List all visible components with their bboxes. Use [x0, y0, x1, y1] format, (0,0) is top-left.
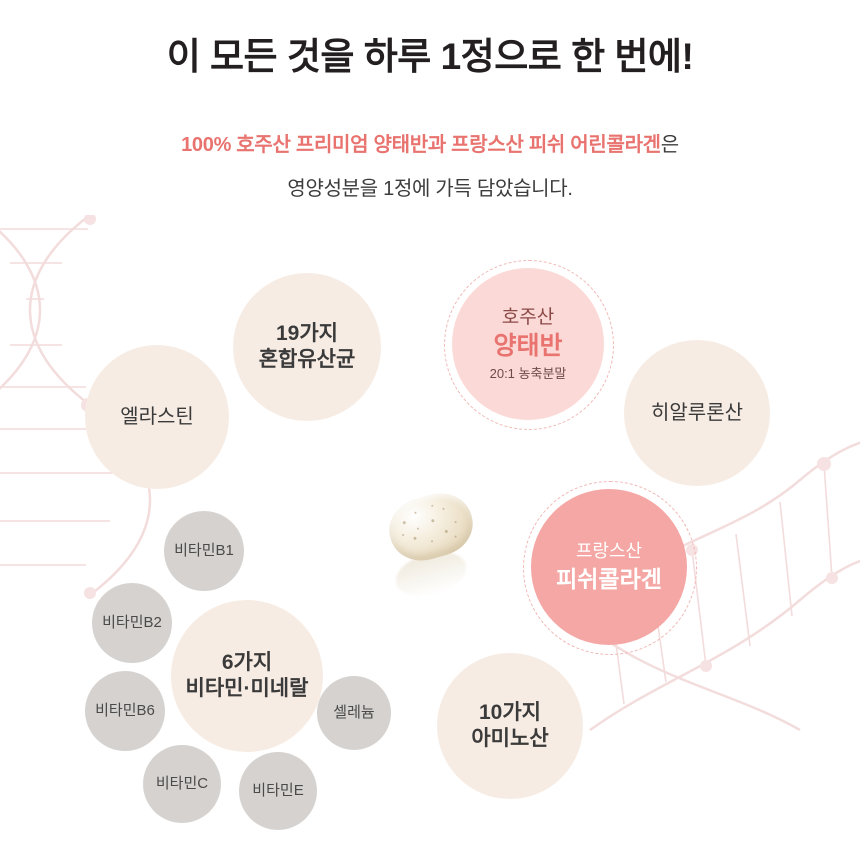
subheading-line-2: 영양성분을 1정에 가득 담았습니다. [0, 172, 860, 201]
bubble-vitamin-mineral: 6가지 비타민·미네랄 [171, 600, 323, 752]
bubble-vitamin-c: 비타민C [143, 745, 221, 823]
bubble-vitamin-b6-label: 비타민B6 [95, 702, 155, 720]
bubble-vitamin-mineral-line2: 비타민·미네랄 [186, 676, 309, 702]
bubble-selenium: 셀레늄 [317, 676, 391, 750]
bubble-vitamin-c-label: 비타민C [156, 775, 208, 793]
bubble-fish-collagen: 프랑스산 피쉬콜라겐 [531, 489, 687, 645]
bubble-hyaluronic-label: 히알루론산 [651, 401, 743, 425]
bubble-elastin-label: 엘라스틴 [120, 405, 194, 429]
page-title: 이 모든 것을 하루 1정으로 한 번에! [0, 26, 860, 80]
bubble-placenta-line1: 호주산 [502, 306, 554, 329]
bubble-vitamin-mineral-line1: 6가지 [222, 650, 272, 676]
bubble-vitamin-b1-label: 비타민B1 [174, 542, 234, 560]
bubble-placenta-line2: 양태반 [493, 331, 562, 362]
bubble-placenta: 호주산 양태반 20:1 농축분말 [452, 268, 604, 420]
bubble-amino-line1: 10가지 [479, 700, 541, 726]
bubble-vitamin-b2-label: 비타민B2 [102, 614, 162, 632]
bubble-elastin: 엘라스틴 [85, 345, 229, 489]
bubble-collagen-line2: 피쉬콜라겐 [556, 565, 662, 593]
bubble-vitamin-e-label: 비타민E [252, 782, 303, 800]
subheading-line-1: 100% 호주산 프리미엄 양태반과 프랑스산 피쉬 어린콜라겐은 [0, 128, 860, 157]
bubble-vitamin-e: 비타민E [239, 752, 317, 830]
bubble-hyaluronic-acid: 히알루론산 [624, 340, 770, 486]
bubble-amino-line2: 아미노산 [471, 726, 548, 752]
bubble-placenta-line3: 20:1 농축분말 [490, 366, 567, 382]
bubble-lactic-line2: 혼합유산균 [259, 347, 356, 373]
tablet-image [389, 496, 473, 616]
bubble-amino-acids: 10가지 아미노산 [437, 653, 583, 799]
bubble-vitamin-b1: 비타민B1 [164, 511, 244, 591]
promo-page: 이 모든 것을 하루 1정으로 한 번에! 100% 호주산 프리미엄 양태반과… [0, 0, 860, 860]
bubble-selenium-label: 셀레늄 [333, 704, 374, 722]
bubble-lactic-acid-bacteria: 19가지 혼합유산균 [233, 273, 381, 421]
bubble-lactic-line1: 19가지 [276, 321, 338, 347]
bubble-vitamin-b2: 비타민B2 [92, 583, 172, 663]
subheading-tail: 은 [661, 134, 679, 156]
subheading-highlight: 100% 호주산 프리미엄 양태반과 프랑스산 피쉬 어린콜라겐 [181, 134, 661, 156]
bubble-vitamin-b6: 비타민B6 [85, 671, 165, 751]
bubble-collagen-line1: 프랑스산 [576, 541, 642, 563]
